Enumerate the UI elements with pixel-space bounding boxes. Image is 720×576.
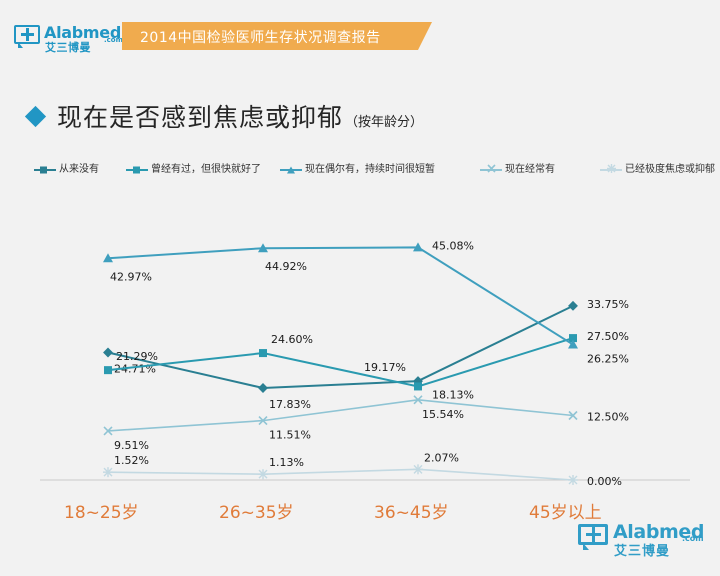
data-label: 12.50% xyxy=(587,411,629,424)
report-title-text: 2014中国检验医师生存状况调查报告 xyxy=(140,27,381,47)
data-point-marker-square xyxy=(104,366,112,374)
legend-item-1[interactable]: 从来没有 xyxy=(34,162,99,178)
chart-legend: 从来没有曾经有过，但很快就好了现在偶尔有，持续时间很短暂现在经常有已经极度焦虑或… xyxy=(34,162,694,178)
speech-bubble-plus-icon xyxy=(14,25,40,49)
page-title-main: 现在是否感到焦虑或抑郁 xyxy=(57,98,343,134)
data-label: 33.75% xyxy=(587,298,629,311)
legend-item-5[interactable]: 已经极度焦虑或抑郁 xyxy=(600,162,715,178)
data-label: 1.13% xyxy=(269,456,304,469)
data-point-marker-square xyxy=(259,349,267,357)
legend-marker-square-icon xyxy=(133,167,140,174)
data-label: 44.92% xyxy=(265,260,307,273)
page-title: 现在是否感到焦虑或抑郁 （按年龄分） xyxy=(28,98,423,134)
x-axis-tick-2: 26~35岁 xyxy=(219,498,294,523)
data-label: 9.51% xyxy=(114,439,149,452)
data-label: 1.52% xyxy=(114,454,149,467)
series-line-4 xyxy=(108,400,573,431)
brand-logo-cn: 艾三博曼 xyxy=(45,39,91,55)
series-line-1 xyxy=(108,306,573,388)
watermark-logo: Alabmed 艾三博曼 .com xyxy=(578,521,708,559)
data-label: 0.00% xyxy=(587,475,622,488)
slide-page: Alabmed 艾三博曼 .com 2014中国检验医师生存状况调查报告 现在是… xyxy=(0,0,720,576)
data-point-marker-star xyxy=(258,469,268,479)
legend-item-label: 现在偶尔有，持续时间很短暂 xyxy=(305,162,435,178)
data-point-marker-diamond xyxy=(103,348,113,358)
legend-line-swatch xyxy=(480,169,502,171)
chart-canvas: 24.71%17.83%19.17%33.75%21.29%24.60%18.1… xyxy=(0,188,720,498)
data-label: 15.54% xyxy=(422,408,464,421)
data-point-marker-star xyxy=(568,475,578,485)
data-label: 11.51% xyxy=(269,429,311,442)
legend-item-2[interactable]: 曾经有过，但很快就好了 xyxy=(126,162,261,178)
data-point-marker-square xyxy=(414,382,422,390)
data-label: 2.07% xyxy=(424,451,459,464)
report-title-ribbon: 2014中国检验医师生存状况调查报告 xyxy=(122,22,432,50)
legend-marker-star-icon xyxy=(607,164,616,176)
legend-line-swatch xyxy=(600,169,622,171)
data-point-marker-star xyxy=(413,464,423,474)
brand-logo: Alabmed 艾三博曼 .com xyxy=(14,24,124,54)
data-label: 26.25% xyxy=(587,353,629,366)
watermark-cn: 艾三博曼 xyxy=(614,540,670,559)
legend-marker-diamond-icon xyxy=(40,167,47,174)
data-label: 42.97% xyxy=(110,270,152,283)
data-point-marker-diamond xyxy=(568,301,578,311)
x-axis-tick-1: 18~25岁 xyxy=(64,498,139,523)
line-chart: 24.71%17.83%19.17%33.75%21.29%24.60%18.1… xyxy=(0,188,720,498)
series-line-5 xyxy=(108,469,573,480)
legend-line-swatch xyxy=(126,169,148,171)
x-axis-tick-4: 45岁以上 xyxy=(529,498,602,523)
slide-header: Alabmed 艾三博曼 .com 2014中国检验医师生存状况调查报告 xyxy=(0,0,720,68)
x-axis-tick-3: 36~45岁 xyxy=(374,498,449,523)
legend-item-4[interactable]: 现在经常有 xyxy=(480,162,555,178)
legend-line-swatch xyxy=(280,169,302,171)
brand-logo-domain: .com xyxy=(104,36,123,44)
data-label: 27.50% xyxy=(587,330,629,343)
data-label: 45.08% xyxy=(432,239,474,252)
legend-marker-triangle-icon xyxy=(287,167,295,174)
data-label: 19.17% xyxy=(364,361,406,374)
watermark-bubble-icon xyxy=(578,524,608,551)
legend-item-3[interactable]: 现在偶尔有，持续时间很短暂 xyxy=(280,162,435,178)
data-label: 18.13% xyxy=(432,388,474,401)
data-label: 17.83% xyxy=(269,398,311,411)
legend-item-label: 已经极度焦虑或抑郁 xyxy=(625,162,715,178)
legend-marker-x-icon xyxy=(487,164,496,176)
data-point-marker-diamond xyxy=(258,383,268,393)
data-label: 24.60% xyxy=(271,333,313,346)
legend-line-swatch xyxy=(34,169,56,171)
legend-item-label: 从来没有 xyxy=(59,162,99,178)
watermark-domain: .com xyxy=(682,534,704,543)
legend-item-label: 现在经常有 xyxy=(505,162,555,178)
series-line-3 xyxy=(108,247,573,344)
series-line-2 xyxy=(108,338,573,386)
legend-item-label: 曾经有过，但很快就好了 xyxy=(151,162,261,178)
data-label: 21.29% xyxy=(116,350,158,363)
data-point-marker-star xyxy=(103,467,113,477)
page-title-sub: （按年龄分） xyxy=(345,111,423,130)
diamond-bullet-icon xyxy=(25,105,46,126)
